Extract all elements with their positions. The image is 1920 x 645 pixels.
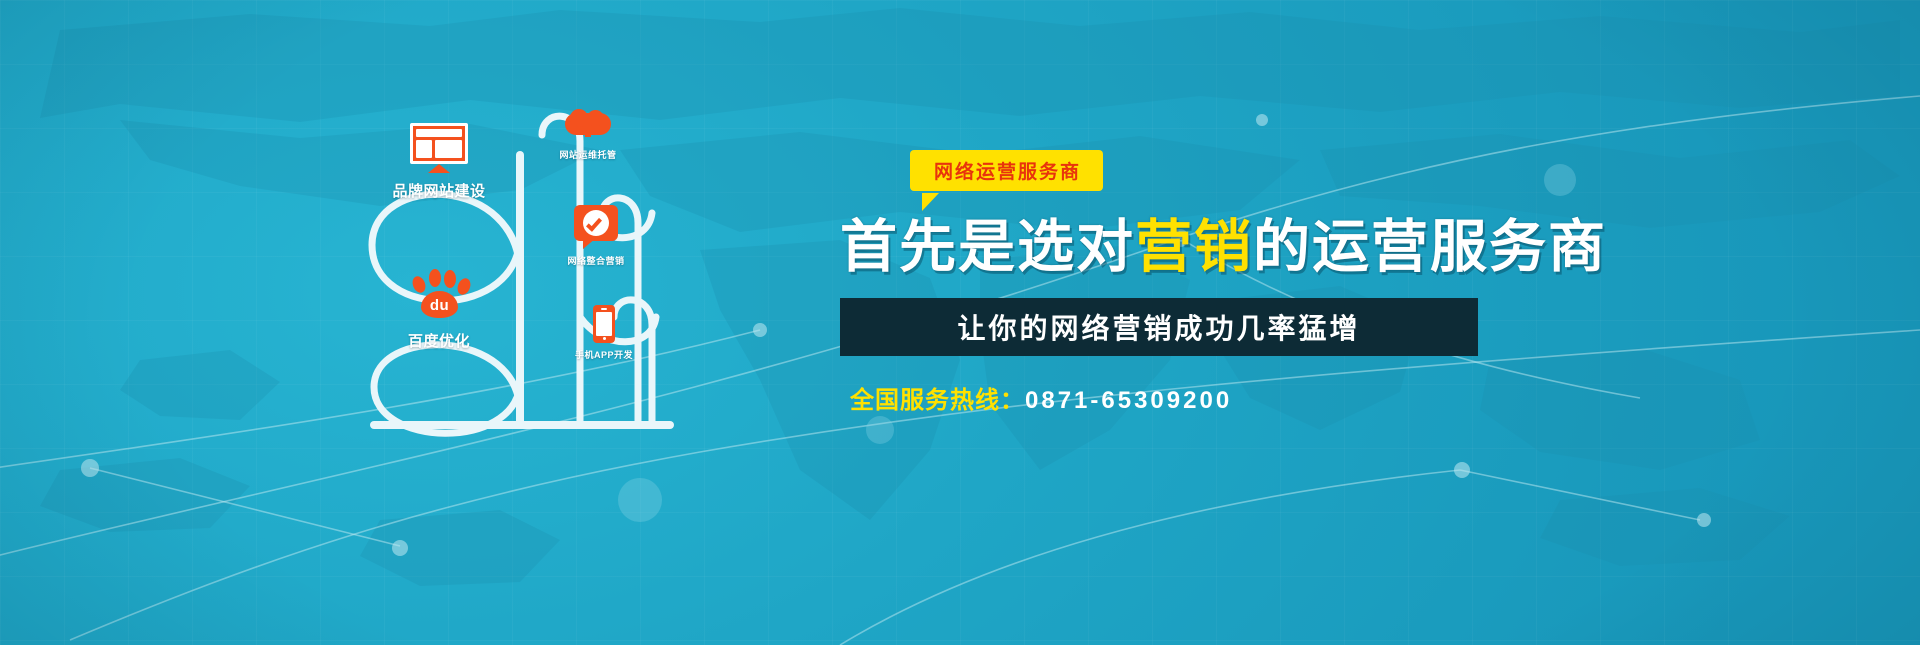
tree-node-app-label: 手机APP开发 <box>553 347 656 360</box>
baidu-paw-icon: du <box>364 267 514 323</box>
check-bubble-icon <box>542 205 650 249</box>
status-badge: 网络运营服务商 <box>910 150 1103 191</box>
tree-node-cloud-label: 网站运维托管 <box>537 147 640 160</box>
tree-node-marketing[interactable]: 网络整合营销 <box>542 205 650 267</box>
badge-container: 网络运营服务商 <box>840 150 1540 200</box>
badge-tail-icon <box>922 193 939 211</box>
headline-highlight: 营销 <box>1135 215 1253 279</box>
cloud-upload-icon <box>534 109 642 143</box>
services-infographic-tree: 品牌网站建设 du 百度优化 网站运维托管 <box>352 95 712 440</box>
headline-part-1: 首先是选对 <box>840 215 1135 279</box>
mobile-phone-icon <box>550 305 658 343</box>
subtitle-text: 让你的网络营销成功几率猛增 <box>957 307 1360 347</box>
hotline: 全国服务热线：0871-65309200 <box>840 380 1540 415</box>
monitor-icon <box>364 123 514 173</box>
tree-node-cloud[interactable]: 网站运维托管 <box>534 109 642 161</box>
baidu-paw-text: du <box>421 291 458 318</box>
tree-node-web-label: 品牌网站建设 <box>364 180 514 201</box>
hotline-label: 全国服务热线： <box>850 387 1025 414</box>
subtitle-strip: 让你的网络营销成功几率猛增 <box>840 298 1478 356</box>
tree-node-baidu-label: 百度优化 <box>364 330 514 351</box>
hotline-number[interactable]: 0871-65309200 <box>1025 387 1232 414</box>
copy-block: 网络运营服务商 首先是选对营销的运营服务商 让你的网络营销成功几率猛增 全国服务… <box>840 150 1540 415</box>
tree-node-web[interactable]: 品牌网站建设 <box>364 123 514 201</box>
page-title: 首先是选对营销的运营服务商 <box>840 218 1540 278</box>
headline-part-2: 的运营服务商 <box>1253 215 1607 279</box>
tree-node-app[interactable]: 手机APP开发 <box>550 305 658 361</box>
tree-node-baidu[interactable]: du 百度优化 <box>364 267 514 351</box>
marketing-banner: 品牌网站建设 du 百度优化 网站运维托管 <box>0 0 1920 645</box>
tree-node-marketing-label: 网络整合营销 <box>545 253 648 266</box>
